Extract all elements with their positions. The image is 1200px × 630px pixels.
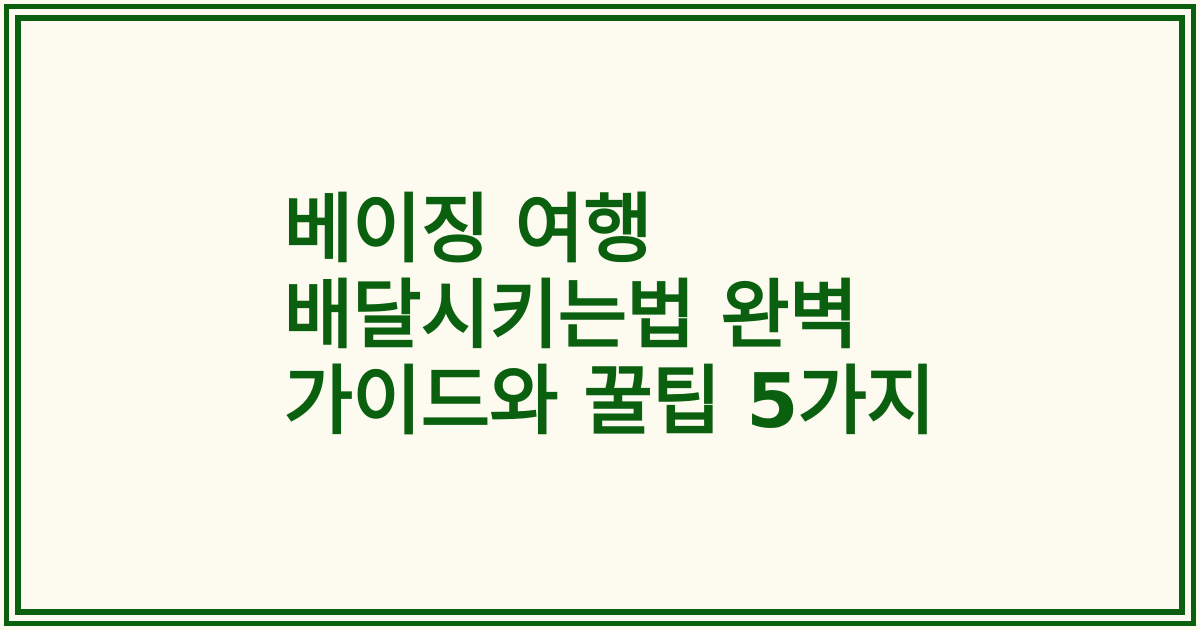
page-title: 베이징 여행 배달시키는법 완벽 가이드와 꿀팁 5가지 [284, 186, 935, 444]
thumbnail-card: 베이징 여행 배달시키는법 완벽 가이드와 꿀팁 5가지 [0, 0, 1200, 630]
title-line-2: 배달시키는법 완벽 [284, 272, 935, 358]
title-line-1: 베이징 여행 [284, 186, 935, 272]
title-content-area: 베이징 여행 배달시키는법 완벽 가이드와 꿀팁 5가지 [0, 0, 1200, 630]
title-line-3: 가이드와 꿀팁 5가지 [284, 358, 935, 444]
